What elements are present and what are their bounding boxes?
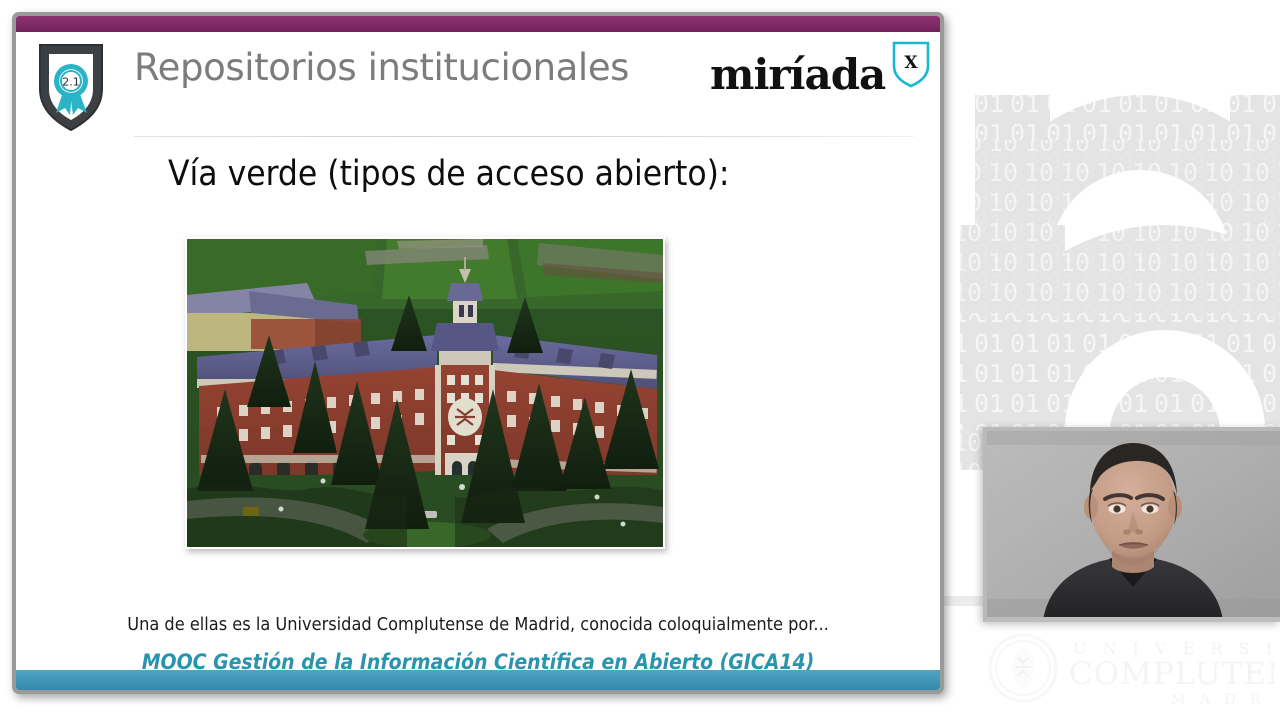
ucm-line-3: M A D R I D bbox=[1171, 692, 1275, 708]
slide-bottom-accent-bar bbox=[16, 670, 940, 690]
slide-frame: 2.1 Repositorios institucionales miríada… bbox=[12, 12, 944, 694]
caption-primary: Una de ellas es la Universidad Compluten… bbox=[16, 614, 940, 635]
badge-number: 2.1 bbox=[62, 76, 80, 89]
shield-x-icon: X bbox=[891, 40, 931, 88]
slide-title: Vía verde (tipos de acceso abierto): bbox=[168, 154, 730, 194]
slide-content: 2.1 Repositorios institucionales miríada… bbox=[16, 16, 940, 690]
ucm-seal-icon bbox=[990, 635, 1056, 701]
miriada-wordmark: miríada bbox=[710, 54, 885, 96]
shield-rosette-icon: 2.1 bbox=[34, 37, 108, 133]
shield-letter: X bbox=[905, 53, 919, 73]
presentation-screen: 01 10 bbox=[0, 0, 1280, 720]
campus-building-photo bbox=[185, 237, 665, 549]
header-title: Repositorios institucionales bbox=[134, 46, 629, 89]
ucm-logo: U N I V E R S I D A D COMPLUTENSE M A D … bbox=[985, 628, 1275, 708]
slide-top-accent-bar bbox=[16, 16, 940, 32]
slide-header: 2.1 Repositorios institucionales miríada… bbox=[16, 32, 940, 122]
ucm-line-2: COMPLUTENSE bbox=[1069, 656, 1275, 692]
miriada-logo: miríada X bbox=[710, 54, 931, 96]
header-divider bbox=[134, 136, 914, 137]
speaker-video-panel[interactable] bbox=[983, 427, 1280, 622]
